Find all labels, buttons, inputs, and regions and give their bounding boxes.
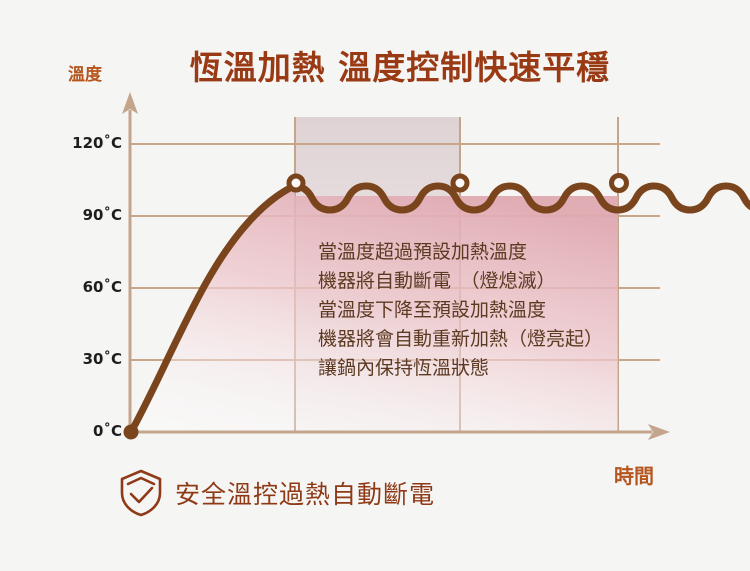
- annotation-line: 機器將自動斷電 （燈熄滅）: [318, 267, 690, 296]
- chart-canvas: 恆溫加熱 溫度控制快速平穩 溫度 時間 120˚C 90˚C 60˚C 30˚C…: [0, 0, 750, 571]
- data-point-marker: [289, 176, 303, 190]
- annotation-line: 讓鍋內保持恆溫狀態: [318, 354, 690, 383]
- annotation-text: 當溫度超過預設加熱溫度 機器將自動斷電 （燈熄滅） 當溫度下降至預設加熱溫度 機…: [318, 238, 690, 383]
- annotation-line: 當溫度超過預設加熱溫度: [318, 238, 690, 267]
- data-point-origin: [124, 425, 139, 440]
- data-point-marker: [612, 176, 627, 191]
- annotation-line: 當溫度下降至預設加熱溫度: [318, 296, 690, 325]
- annotation-line: 機器將會自動重新加熱（燈亮起）: [318, 325, 690, 354]
- safety-badge-label: 安全溫控過熱自動斷電: [175, 475, 435, 511]
- shield-check-icon: [118, 468, 164, 518]
- data-point-marker: [453, 176, 467, 190]
- safety-badge: 安全溫控過熱自動斷電: [118, 468, 435, 518]
